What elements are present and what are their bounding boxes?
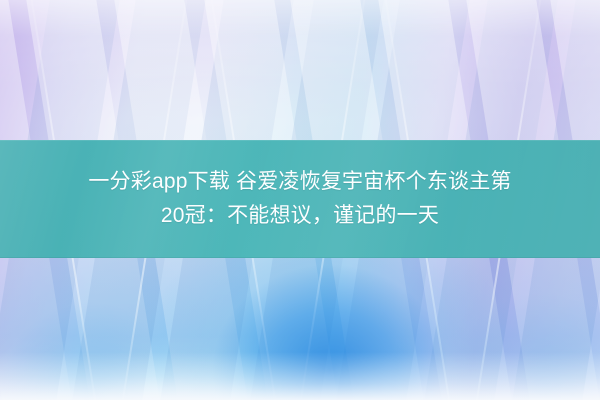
banner-image: 一分彩app下载 谷爱凌恢复宇宙杯个东谈主第 20冠：不能想议，谨记的一天	[0, 0, 600, 400]
caption-text-block: 一分彩app下载 谷爱凌恢复宇宙杯个东谈主第 20冠：不能想议，谨记的一天	[0, 140, 600, 258]
caption-band: 一分彩app下载 谷爱凌恢复宇宙杯个东谈主第 20冠：不能想议，谨记的一天	[0, 140, 600, 258]
caption-line-2: 20冠：不能想议，谨记的一天	[161, 202, 439, 230]
caption-line-1: 一分彩app下载 谷爱凌恢复宇宙杯个东谈主第	[88, 168, 511, 196]
